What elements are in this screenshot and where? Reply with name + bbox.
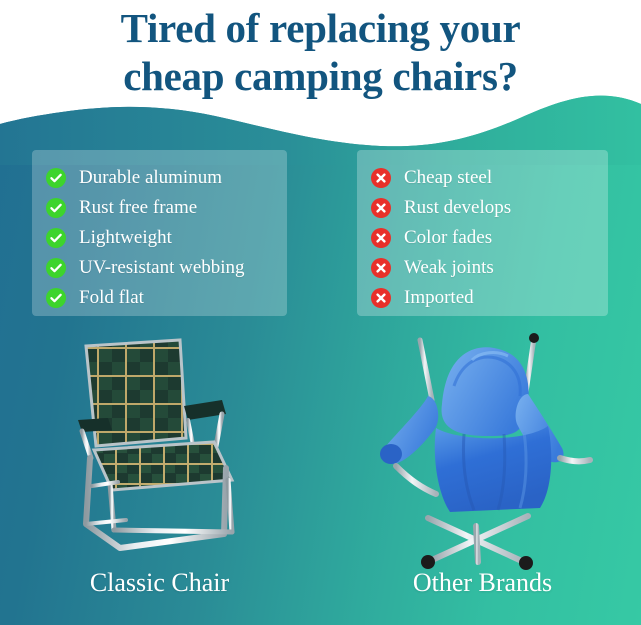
check-circle-icon xyxy=(46,198,66,218)
list-item-label: Imported xyxy=(404,288,474,308)
other-brand-chair-image xyxy=(376,330,604,570)
x-circle-icon xyxy=(371,288,391,308)
page-title: Tired of replacing your cheap camping ch… xyxy=(0,4,641,100)
x-circle-icon xyxy=(371,258,391,278)
list-item: Rust free frame xyxy=(46,193,277,222)
headline-line-2: cheap camping chairs? xyxy=(0,52,641,100)
list-item: Rust develops xyxy=(371,193,598,222)
list-item: Weak joints xyxy=(371,253,598,282)
list-item: UV-resistant webbing xyxy=(46,253,277,282)
list-item-label: Lightweight xyxy=(79,228,172,248)
list-item-label: Cheap steel xyxy=(404,168,492,188)
list-item-label: UV-resistant webbing xyxy=(79,258,245,278)
check-circle-icon xyxy=(46,258,66,278)
cons-panel: Cheap steel Rust develops xyxy=(357,150,608,316)
pros-panel: Durable aluminum Rust free frame xyxy=(32,150,287,316)
pros-list: Durable aluminum Rust free frame xyxy=(46,163,277,312)
list-item: Fold flat xyxy=(46,283,277,312)
list-item: Imported xyxy=(371,283,598,312)
list-item-label: Fold flat xyxy=(79,288,144,308)
cons-list: Cheap steel Rust develops xyxy=(371,163,598,312)
list-item: Color fades xyxy=(371,223,598,252)
list-item-label: Weak joints xyxy=(404,258,494,278)
x-circle-icon xyxy=(371,228,391,248)
classic-chair-caption: Classic Chair xyxy=(32,568,287,598)
list-item-label: Rust develops xyxy=(404,198,511,218)
list-item: Lightweight xyxy=(46,223,277,252)
x-circle-icon xyxy=(371,168,391,188)
headline-line-1: Tired of replacing your xyxy=(0,4,641,52)
list-item: Durable aluminum xyxy=(46,163,277,192)
check-circle-icon xyxy=(46,168,66,188)
comparison-infographic: Tired of replacing your cheap camping ch… xyxy=(0,0,641,625)
check-circle-icon xyxy=(46,288,66,308)
other-brands-caption: Other Brands xyxy=(357,568,608,598)
list-item-label: Color fades xyxy=(404,228,492,248)
list-item: Cheap steel xyxy=(371,163,598,192)
x-circle-icon xyxy=(371,198,391,218)
check-circle-icon xyxy=(46,228,66,248)
classic-chair-image xyxy=(56,334,276,566)
list-item-label: Durable aluminum xyxy=(79,168,222,188)
list-item-label: Rust free frame xyxy=(79,198,197,218)
